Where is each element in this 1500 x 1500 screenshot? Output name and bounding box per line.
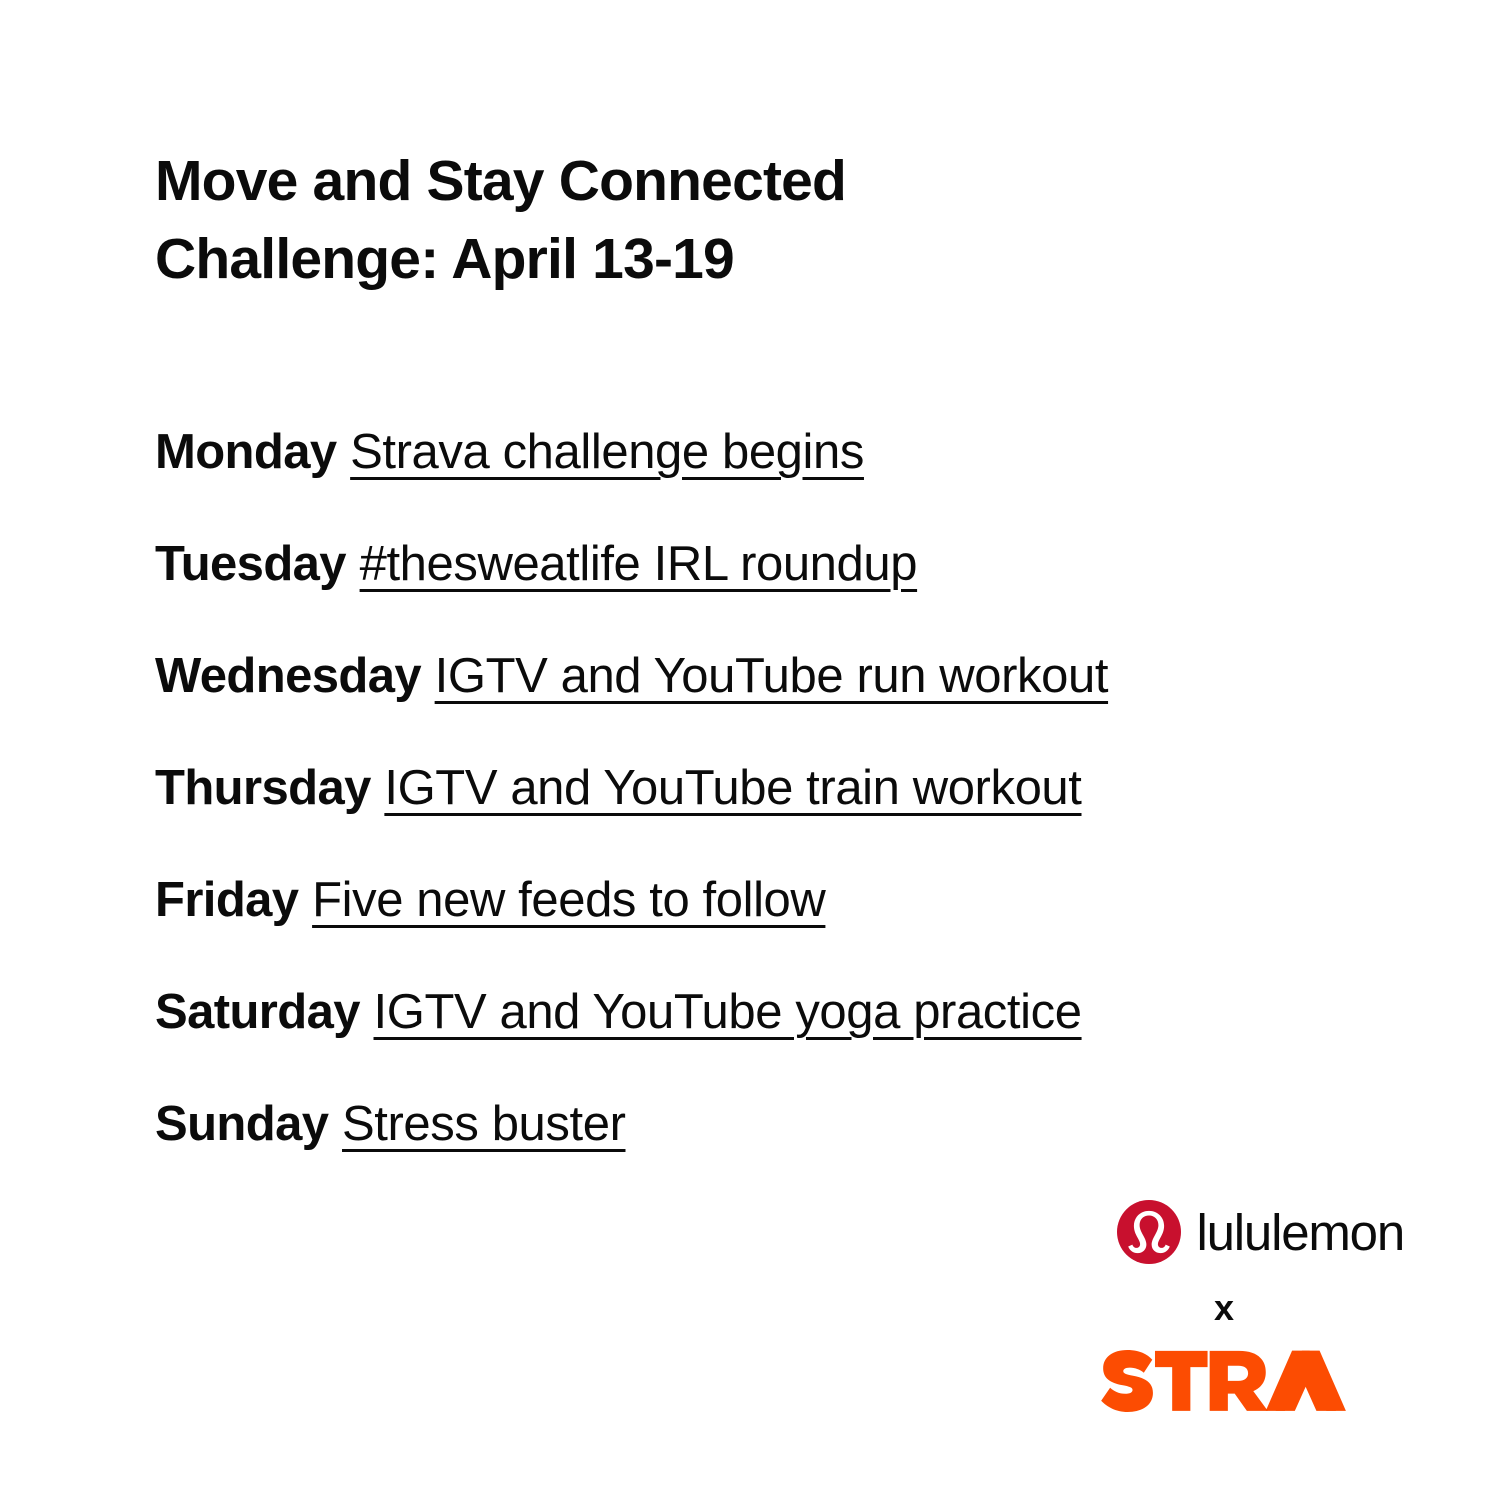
lululemon-omega-logo-icon (1117, 1200, 1181, 1264)
spacer (328, 1097, 342, 1151)
lululemon-wordmark: lululemon (1197, 1207, 1405, 1258)
brand-separator: x (1044, 1276, 1404, 1340)
schedule-row-thursday: Thursday IGTV and YouTube train workout (155, 732, 1445, 844)
schedule-row-wednesday: Wednesday IGTV and YouTube run workout (155, 620, 1445, 732)
day-label-thursday: Thursday (155, 761, 371, 815)
lululemon-logo: lululemon (1044, 1196, 1404, 1268)
day-description-saturday[interactable]: IGTV and YouTube yoga practice (374, 985, 1082, 1039)
day-description-sunday[interactable]: Stress buster (342, 1097, 625, 1151)
day-label-monday: Monday (155, 425, 337, 479)
strava-logo (1044, 1344, 1404, 1418)
schedule-row-tuesday: Tuesday #thesweatlife IRL roundup (155, 508, 1445, 620)
spacer (337, 425, 351, 479)
spacer (346, 537, 360, 591)
spacer (360, 985, 374, 1039)
brand-lockup: lululemon x (1044, 1196, 1404, 1418)
day-description-thursday[interactable]: IGTV and YouTube train workout (384, 761, 1081, 815)
brand-separator-label: x (1214, 1287, 1234, 1328)
day-label-tuesday: Tuesday (155, 537, 346, 591)
spacer (421, 649, 435, 703)
day-description-monday[interactable]: Strava challenge begins (350, 425, 864, 479)
day-description-tuesday[interactable]: #thesweatlife IRL roundup (360, 537, 918, 591)
page-title-line-1: Move and Stay Connected (155, 142, 1055, 220)
day-label-friday: Friday (155, 873, 298, 927)
page-title: Move and Stay Connected Challenge: April… (155, 142, 1055, 298)
spacer (371, 761, 385, 815)
schedule-row-saturday: Saturday IGTV and YouTube yoga practice (155, 956, 1445, 1068)
strava-wordmark-icon (1100, 1350, 1348, 1412)
day-label-wednesday: Wednesday (155, 649, 421, 703)
spacer (298, 873, 312, 927)
schedule-row-sunday: Sunday Stress buster (155, 1068, 1445, 1180)
day-description-friday[interactable]: Five new feeds to follow (312, 873, 825, 927)
schedule-row-friday: Friday Five new feeds to follow (155, 844, 1445, 956)
weekly-schedule-list: Monday Strava challenge begins Tuesday #… (155, 396, 1445, 1180)
day-label-saturday: Saturday (155, 985, 360, 1039)
page-title-line-2: Challenge: April 13-19 (155, 220, 1055, 298)
day-description-wednesday[interactable]: IGTV and YouTube run workout (435, 649, 1108, 703)
day-label-sunday: Sunday (155, 1097, 328, 1151)
schedule-row-monday: Monday Strava challenge begins (155, 396, 1445, 508)
